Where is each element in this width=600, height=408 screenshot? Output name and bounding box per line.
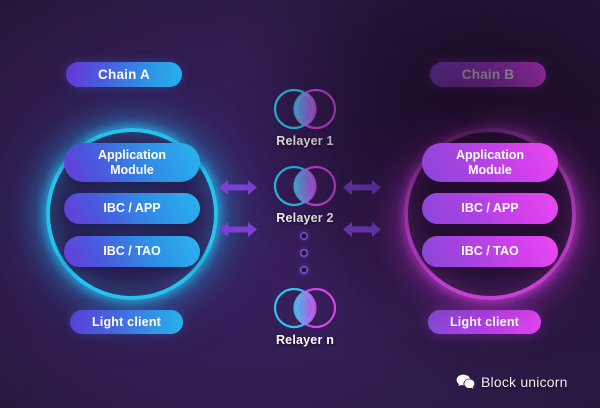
relayer-n-label: Relayer n xyxy=(262,333,348,347)
chain-b-application-module-pill: Application Module xyxy=(422,143,558,182)
chain-b-ibc-app-pill: IBC / APP xyxy=(422,193,558,224)
chain-a-light-client-pill: Light client xyxy=(70,310,183,334)
double-headed-arrow-icon xyxy=(343,220,381,239)
relayer-n: Relayer n xyxy=(262,285,348,347)
wechat-icon xyxy=(456,374,475,390)
relayer-2: Relayer 2 xyxy=(262,163,348,225)
chain-b-app-line1: Application xyxy=(456,148,524,162)
double-headed-arrow-icon xyxy=(343,178,381,197)
ellipsis-dot xyxy=(300,232,308,240)
chain-a-application-module-pill: Application Module xyxy=(64,143,200,182)
watermark-label: Block unicorn xyxy=(481,374,568,390)
venn-circles-icon xyxy=(268,86,342,132)
chain-b-light-client-pill: Light client xyxy=(428,310,541,334)
chain-b-header-pill: Chain B xyxy=(430,62,546,87)
double-headed-arrow-icon xyxy=(219,178,257,197)
chain-b-ibc-tao-pill: IBC / TAO xyxy=(422,236,558,267)
venn-circles-icon xyxy=(268,163,342,209)
chain-a-ibc-app-pill: IBC / APP xyxy=(64,193,200,224)
relayer-1: Relayer 1 xyxy=(262,86,348,148)
diagram-canvas: Chain A Application Module IBC / APP IBC… xyxy=(0,0,600,408)
double-headed-arrow-icon xyxy=(219,220,257,239)
chain-a-app-line1: Application xyxy=(98,148,166,162)
chain-b-app-line2: Module xyxy=(468,163,512,177)
chain-a-header-pill: Chain A xyxy=(66,62,182,87)
watermark: Block unicorn xyxy=(456,374,568,390)
relayer-1-label: Relayer 1 xyxy=(262,134,348,148)
ellipsis-dot xyxy=(300,249,308,257)
chain-a-ibc-tao-pill: IBC / TAO xyxy=(64,236,200,267)
relayer-2-label: Relayer 2 xyxy=(262,211,348,225)
vertical-ellipsis-icon xyxy=(297,232,311,274)
venn-circles-icon xyxy=(268,285,342,331)
chain-a-app-line2: Module xyxy=(110,163,154,177)
ellipsis-dot xyxy=(300,266,308,274)
